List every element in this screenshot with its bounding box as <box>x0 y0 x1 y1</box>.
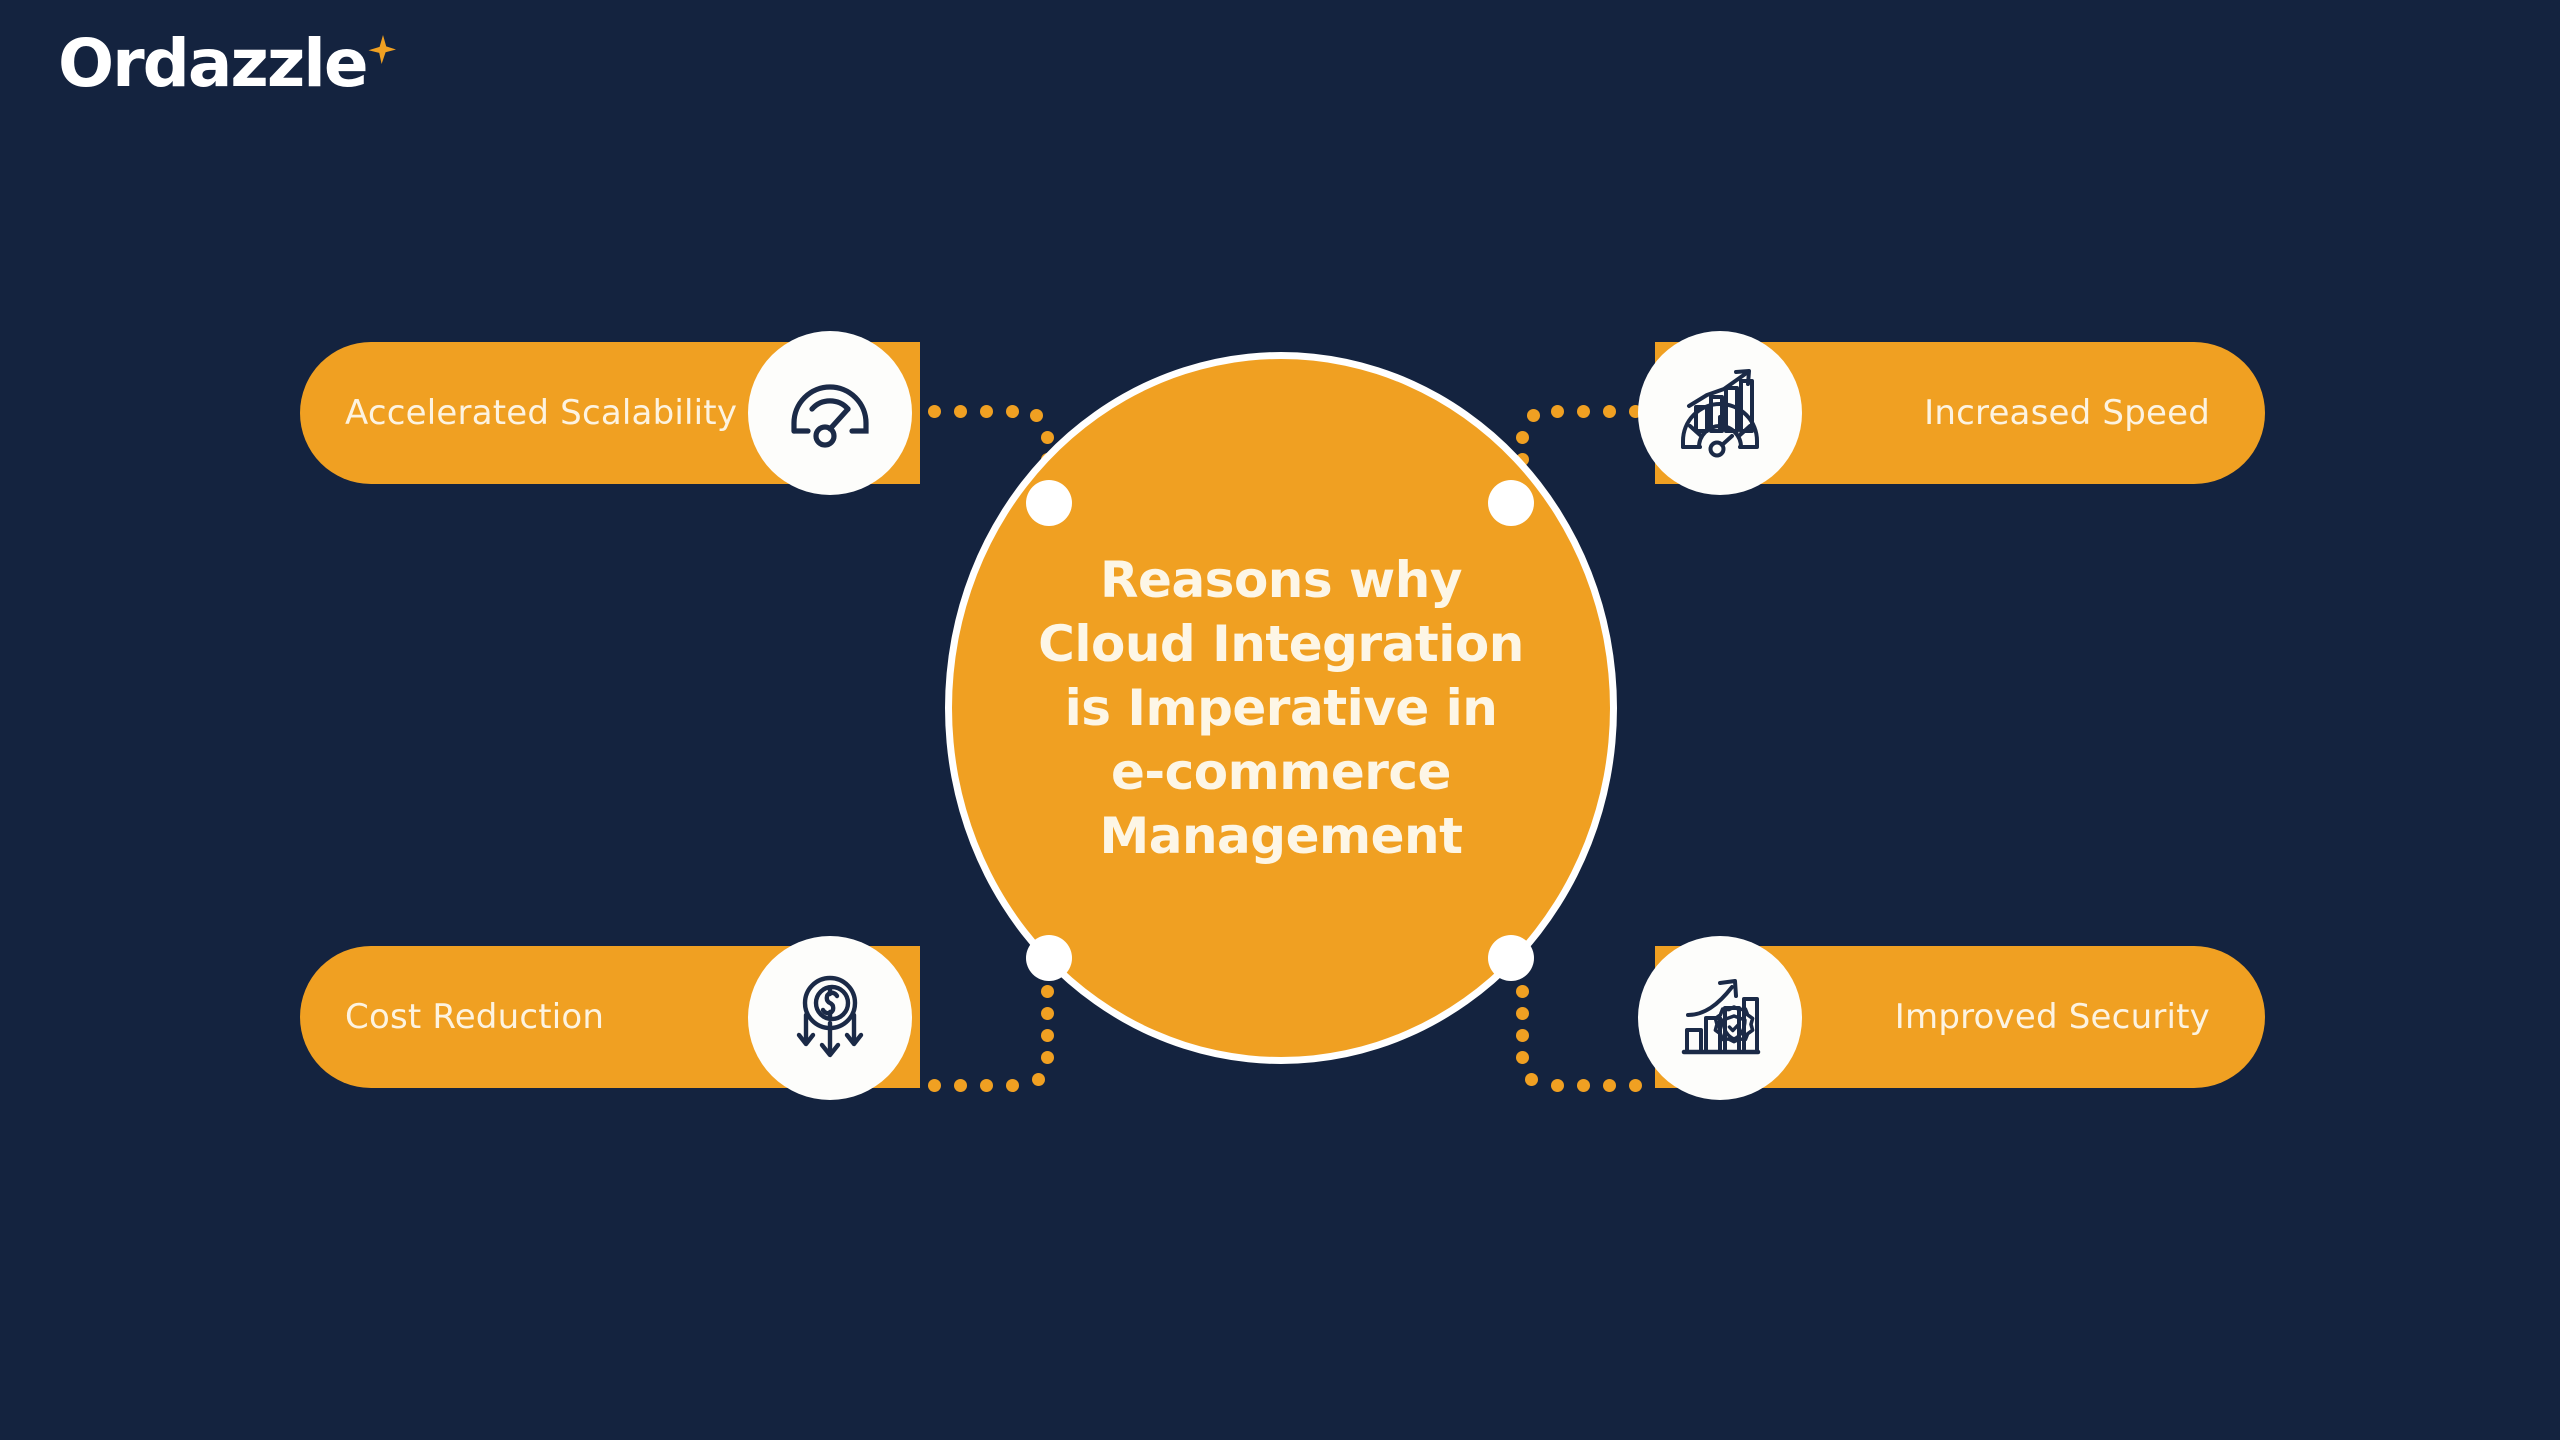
growth-chart-gauge-icon <box>1670 363 1770 463</box>
hub-connector-node-top-left <box>1026 480 1072 526</box>
connector-dot <box>1577 1079 1590 1092</box>
connector-dot <box>1032 1073 1045 1086</box>
connector-dot <box>1516 1029 1529 1042</box>
connector-dot <box>1516 1007 1529 1020</box>
connector-dot <box>1006 1079 1019 1092</box>
connector-dot <box>1041 1007 1054 1020</box>
connector-dot <box>954 405 967 418</box>
connector-bottom-right <box>1492 985 1642 1095</box>
item-label: Increased Speed <box>1924 393 2210 433</box>
brand-logo-text: Ordazzle <box>58 28 367 100</box>
connector-dot <box>1041 1051 1054 1064</box>
connector-dot <box>1577 405 1590 418</box>
hub-title: Reasons why Cloud Integration is Imperat… <box>1016 548 1546 868</box>
connector-dot <box>1629 1079 1642 1092</box>
connector-dot <box>954 1079 967 1092</box>
item-label: Accelerated Scalability <box>345 393 737 433</box>
connector-bottom-left <box>928 985 1068 1095</box>
infographic-canvas: Ordazzle <box>0 0 2560 1440</box>
hub-connector-node-bottom-left <box>1026 935 1072 981</box>
item-label: Improved Security <box>1895 997 2210 1037</box>
connector-dot <box>1516 431 1529 444</box>
connector-dot <box>1030 409 1043 422</box>
growth-chart-shield-gear-icon <box>1670 968 1770 1068</box>
connector-dot <box>1551 405 1564 418</box>
dollar-coin-down-arrows-icon <box>780 968 880 1068</box>
hub-connector-node-bottom-right <box>1488 935 1534 981</box>
connector-dot <box>928 1079 941 1092</box>
sparkle-star-icon <box>363 34 397 73</box>
connector-dot <box>1525 1073 1538 1086</box>
connector-dot <box>1516 985 1529 998</box>
connector-dot <box>928 405 941 418</box>
item-icon-bubble-cost-reduction[interactable] <box>748 936 912 1100</box>
connector-dot <box>1041 431 1054 444</box>
connector-dot <box>1516 1051 1529 1064</box>
item-icon-bubble-increased-speed[interactable] <box>1638 331 1802 495</box>
connector-dot <box>1041 985 1054 998</box>
connector-dot <box>1603 405 1616 418</box>
item-label: Cost Reduction <box>345 997 604 1037</box>
connector-dot <box>1041 1029 1054 1042</box>
speedometer-gauge-icon <box>780 363 880 463</box>
connector-dot <box>980 1079 993 1092</box>
item-icon-bubble-improved-security[interactable] <box>1638 936 1802 1100</box>
hub-connector-node-top-right <box>1488 480 1534 526</box>
connector-dot <box>1603 1079 1616 1092</box>
connector-dot <box>1527 409 1540 422</box>
brand-logo: Ordazzle <box>58 28 397 108</box>
connector-dot <box>980 405 993 418</box>
item-icon-bubble-accelerated-scalability[interactable] <box>748 331 912 495</box>
connector-dot <box>1551 1079 1564 1092</box>
connector-dot <box>1006 405 1019 418</box>
